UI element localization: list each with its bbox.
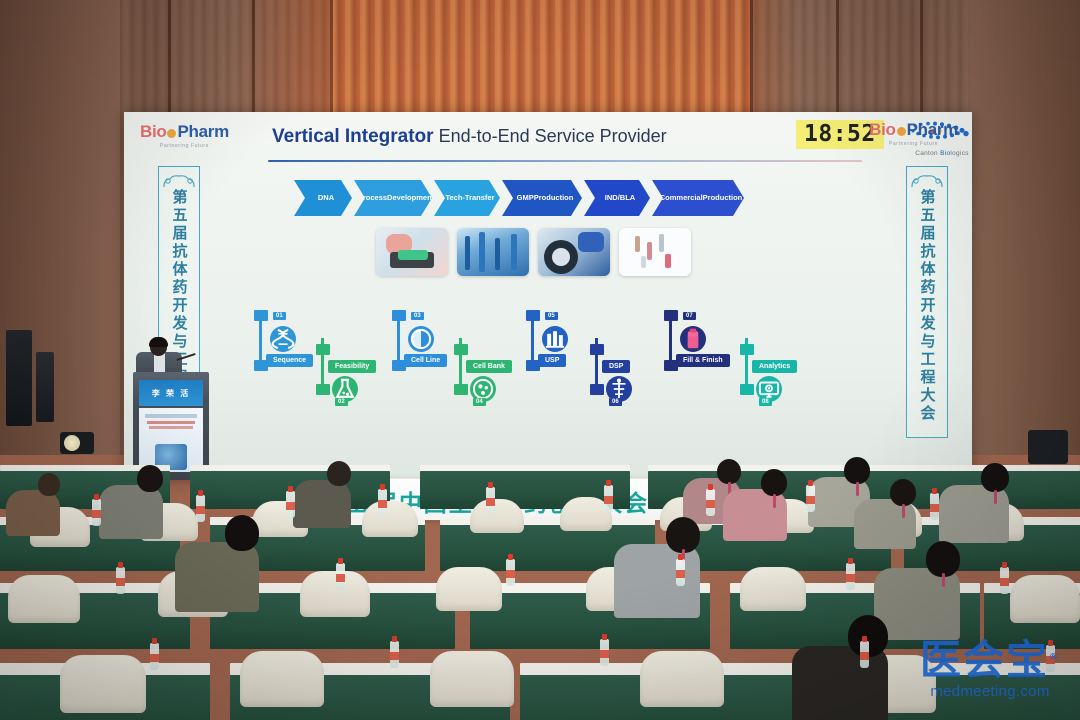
- attendee-lanyard: [856, 482, 859, 496]
- audience-chair: [1010, 575, 1080, 623]
- medmeeting-watermark: 医会宝® medmeeting.com: [906, 640, 1074, 700]
- person-torso: [614, 544, 700, 618]
- slide-title-bold: Vertical Integrator: [272, 126, 434, 147]
- biopharm-dot-icon: [897, 127, 906, 136]
- centrifuge-equipment-photo: [538, 228, 610, 276]
- node-foot: [454, 344, 468, 355]
- node-number-badge: 08: [759, 398, 772, 406]
- camera-rig: [1028, 430, 1068, 464]
- slide-title: Vertical Integrator End-to-End Service P…: [272, 126, 812, 148]
- water-bottle: [378, 489, 387, 516]
- node-foot: [316, 344, 330, 355]
- right-wall: [970, 0, 1080, 470]
- node-label: Analytics: [752, 360, 797, 373]
- person-head: [717, 459, 741, 484]
- bioreactor-icon: [542, 326, 568, 352]
- person-torso: [939, 485, 1009, 543]
- node-number-badge: 01: [273, 312, 286, 320]
- bioprocess-timeline: Sequence01Feasibility02Cell Line03Cell B…: [244, 298, 864, 418]
- pa-speaker-secondary: [36, 352, 54, 422]
- node-number-badge: 05: [545, 312, 558, 320]
- title-underline: [268, 160, 862, 162]
- node-foot: [590, 344, 604, 355]
- node-label: Cell Line: [404, 354, 447, 367]
- person-head: [327, 461, 351, 486]
- person-head: [981, 463, 1009, 492]
- node-number-badge: 06: [609, 398, 622, 406]
- audience-chair: [240, 651, 324, 707]
- water-bottle: [486, 487, 495, 514]
- biopharm-bio-text: Bio: [140, 122, 166, 141]
- water-bottle: [336, 563, 345, 590]
- biopharm-wordmark: BioPharm: [869, 120, 958, 140]
- node-stem: [259, 318, 262, 364]
- person-torso: [293, 480, 351, 528]
- attendee-lanyard: [773, 494, 776, 508]
- node-label: Sequence: [266, 354, 313, 367]
- speaker-hair: [149, 337, 168, 347]
- poster-line: [145, 414, 197, 418]
- node-number-badge: 02: [335, 398, 348, 406]
- audience-chair: [8, 575, 80, 623]
- water-bottle: [604, 485, 613, 512]
- slide-surface: BioPharm Partnering Future Vertical Inte…: [124, 112, 972, 478]
- water-bottle: [846, 563, 855, 590]
- dna-icon: [270, 326, 296, 352]
- person-torso: [854, 499, 916, 549]
- biopharm-tagline: Partnering Future: [160, 143, 209, 149]
- canton-wordmark: Canton Biologics: [894, 150, 990, 157]
- poster-line: [147, 421, 195, 424]
- photo-thumbnail-row: [376, 228, 691, 276]
- node-label: USP: [538, 354, 566, 367]
- chevron-gmp-production: GMPProduction: [502, 180, 582, 216]
- audience-chair: [740, 567, 806, 611]
- water-bottle: [116, 567, 125, 594]
- cloud-ornament-icon: [160, 173, 198, 189]
- audience-chair: [430, 651, 514, 707]
- attendee-lanyard: [942, 573, 945, 587]
- audience-chair: [436, 567, 502, 611]
- biopharm-logo-right: BioPharm Partnering Future: [869, 120, 958, 147]
- stage-light: [60, 432, 94, 454]
- right-vertical-banner: 第五届抗体药开发与工程大会: [906, 166, 948, 438]
- water-bottle: [806, 485, 815, 512]
- person-head: [38, 473, 60, 496]
- right-banner-text: 第五届抗体药开发与工程大会: [920, 189, 935, 423]
- biopharm-pharm-text: Pharm: [177, 122, 228, 141]
- water-bottle: [600, 639, 609, 666]
- node-number-badge: 03: [411, 312, 424, 320]
- biopharm-logo-left: BioPharm Partnering Future: [140, 122, 229, 149]
- person-head: [844, 457, 870, 484]
- node-label: Cell Bank: [466, 360, 512, 373]
- person-head: [926, 541, 960, 577]
- chevron-tech-transfer: Tech-Transfer: [434, 180, 500, 216]
- chevron-ind-bla: IND/BLA: [584, 180, 650, 216]
- person-torso: [99, 485, 163, 539]
- audience-chair: [640, 651, 724, 707]
- bioreactor-suite-photo: [457, 228, 529, 276]
- chevron-process-development: ProcessDevelopment: [354, 180, 432, 216]
- attendee-lanyard: [902, 504, 905, 518]
- biopharm-tagline: Partnering Future: [889, 141, 938, 147]
- vial-icon: [680, 326, 706, 352]
- biopharm-dot-icon: [167, 129, 176, 138]
- conference-photo: BioPharm Partnering Future Vertical Inte…: [0, 0, 1080, 720]
- water-bottle: [150, 643, 159, 670]
- water-bottle: [706, 489, 715, 516]
- node-stem: [669, 318, 672, 364]
- pipetting-sample-photo: [376, 228, 448, 276]
- water-bottle: [860, 641, 869, 668]
- node-stem: [531, 318, 534, 364]
- person-torso: [792, 646, 888, 720]
- biopharm-bio-text: Bio: [869, 120, 895, 139]
- person-head: [890, 479, 916, 506]
- water-bottle: [1000, 567, 1009, 594]
- pa-speaker: [6, 330, 32, 426]
- audience-chair: [470, 499, 524, 533]
- water-bottle: [92, 499, 101, 526]
- person-torso: [175, 542, 259, 612]
- node-label: Feasibility: [328, 360, 376, 373]
- node-number-badge: 04: [473, 398, 486, 406]
- projection-screen: BioPharm Partnering Future Vertical Inte…: [124, 112, 972, 478]
- slide-title-regular: End-to-End Service Provider: [434, 126, 667, 146]
- chevron-dna: DNA: [294, 180, 352, 216]
- chevron-commercial-production: CommercialProduction: [652, 180, 744, 216]
- watermark-logo-text: 医会宝®: [906, 640, 1074, 681]
- water-bottle: [286, 491, 295, 518]
- biopharm-wordmark: BioPharm: [140, 122, 229, 142]
- node-foot: [740, 344, 754, 355]
- node-number-badge: 07: [683, 312, 696, 320]
- person-head: [761, 469, 787, 496]
- node-label: Fill & Finish: [676, 354, 730, 367]
- audience-chair: [362, 501, 418, 537]
- water-bottle: [506, 559, 515, 586]
- cell-icon: [408, 326, 434, 352]
- podium-name-placard: 李 荣 活: [139, 380, 203, 406]
- audience-chair: [60, 655, 146, 713]
- cloud-ornament-icon: [908, 173, 946, 189]
- person-head: [666, 517, 700, 553]
- person-torso: [723, 489, 787, 541]
- biopharm-pharm-text: Pharm: [907, 120, 958, 139]
- attendee-lanyard: [994, 490, 997, 504]
- person-head: [137, 465, 163, 492]
- water-bottle: [390, 641, 399, 668]
- poster-line: [149, 426, 193, 429]
- process-chevron-row: DNAProcessDevelopmentTech-TransferGMPPro…: [294, 180, 746, 216]
- person-head: [225, 515, 259, 551]
- vials-syringes-photo: [619, 228, 691, 276]
- water-bottle: [930, 493, 939, 520]
- node-stem: [397, 318, 400, 364]
- person-torso: [6, 490, 60, 536]
- audience-chair: [300, 571, 370, 617]
- node-label: DSP: [602, 360, 630, 373]
- water-bottle: [196, 495, 205, 522]
- watermark-url: medmeeting.com: [906, 683, 1074, 700]
- water-bottle: [676, 559, 685, 586]
